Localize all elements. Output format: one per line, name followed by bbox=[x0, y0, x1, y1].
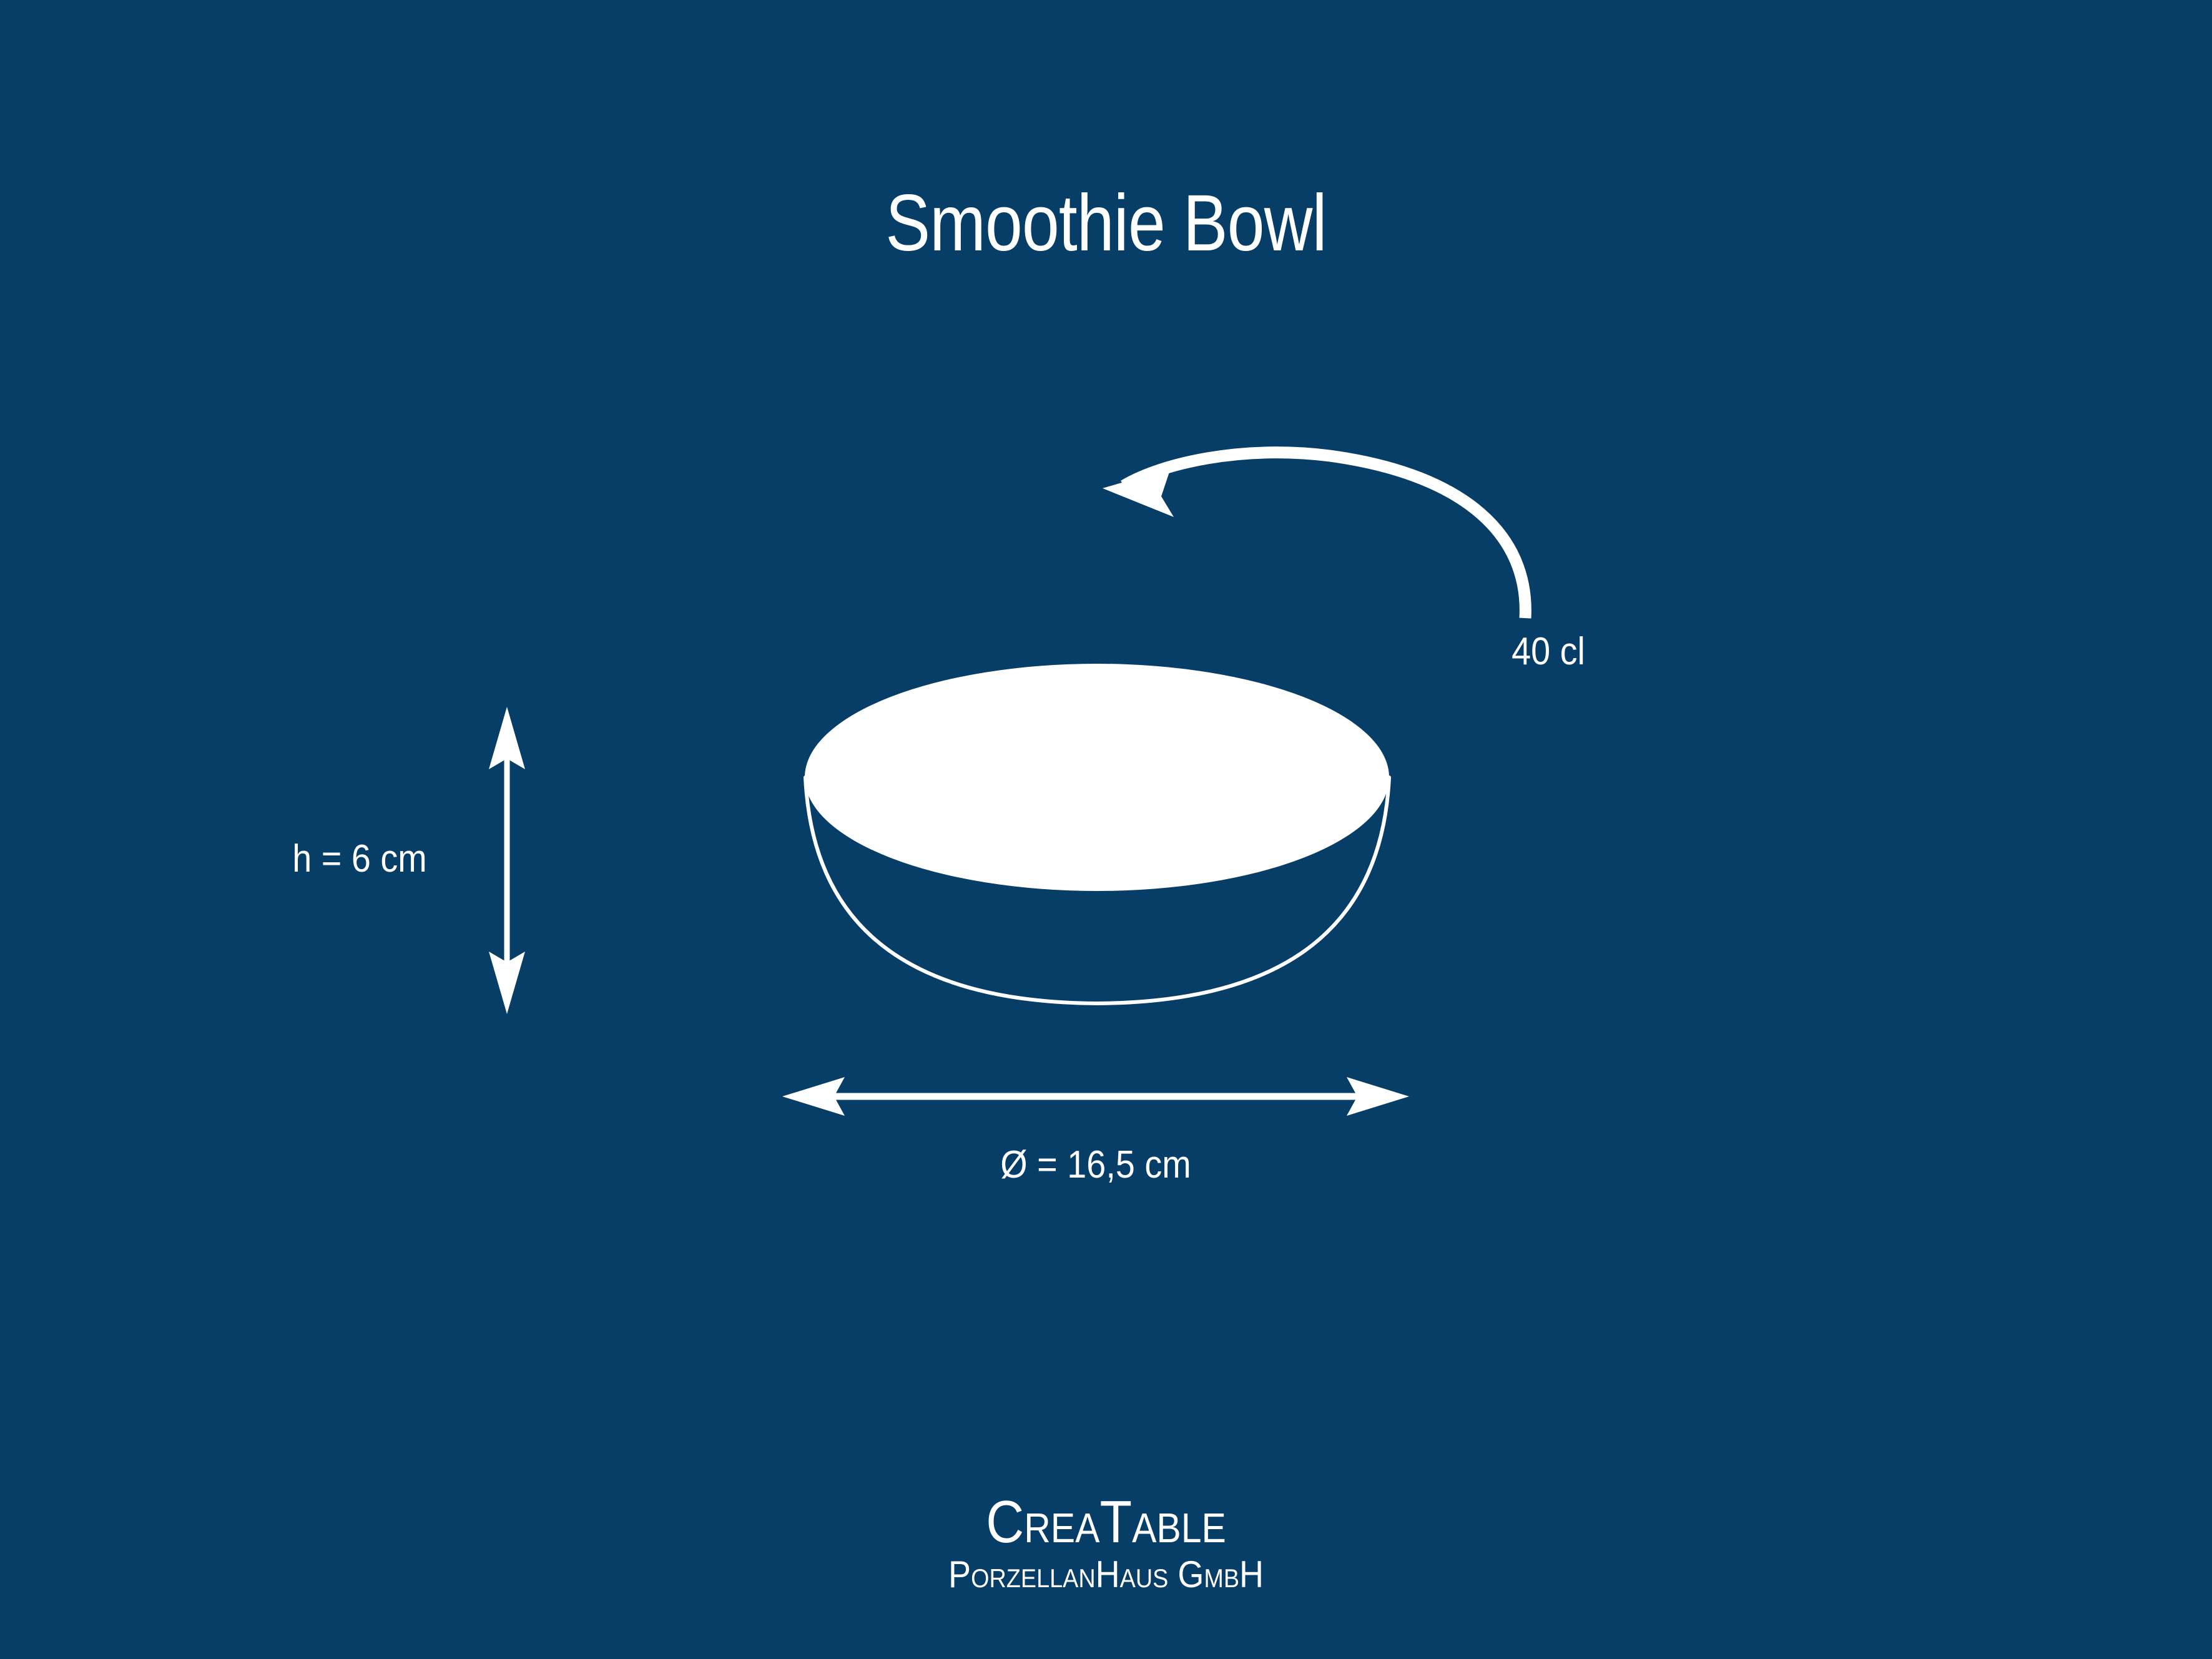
bowl-diagram bbox=[0, 0, 2212, 1659]
bowl-rim bbox=[805, 664, 1389, 891]
brand-name: CreaTable bbox=[986, 1492, 1226, 1552]
diameter-dimension-arrow bbox=[782, 1077, 1409, 1116]
height-label: h = 6 cm bbox=[270, 837, 450, 881]
brand-logo-subline: PorzellanHaus GmbH bbox=[0, 1552, 2212, 1593]
product-spec-sheet: Smoothie Bowl bbox=[0, 0, 2212, 1659]
diameter-label: Ø = 16,5 cm bbox=[843, 1143, 1349, 1187]
brand-logo: CreaTable PorzellanHaus GmbH bbox=[0, 1492, 2212, 1593]
brand-logo-line: CreaTable bbox=[0, 1492, 2212, 1552]
height-dimension-arrow bbox=[489, 707, 525, 1014]
capacity-label: 40 cl bbox=[1464, 629, 1633, 674]
brand-subtitle: PorzellanHaus GmbH bbox=[948, 1556, 1264, 1593]
capacity-callout-arrow bbox=[1103, 453, 1525, 618]
